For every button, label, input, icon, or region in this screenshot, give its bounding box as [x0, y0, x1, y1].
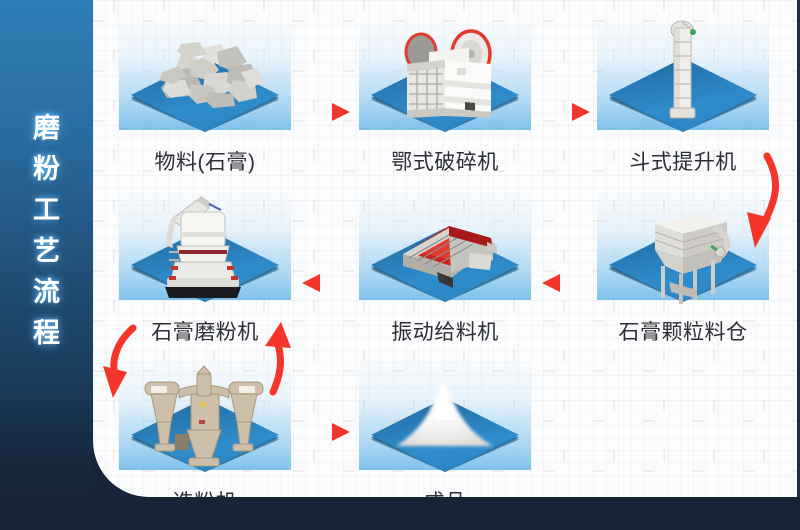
flowchart-poster: 磨 粉 工 艺 流 程 [0, 0, 800, 530]
vibrating-feeder-icon [345, 188, 545, 314]
flow-node-finished-product[interactable]: 成品 [345, 358, 545, 497]
flow-node-raw-material[interactable]: 物料(石膏) [105, 18, 305, 178]
sidebar-title-bar: 磨 粉 工 艺 流 程 [0, 0, 93, 530]
rock-pile-icon [105, 18, 305, 144]
flow-node-label: 成品 [345, 486, 545, 497]
raymond-mill-icon [105, 188, 305, 314]
stage-platform-grinding-mill [105, 188, 305, 314]
title-char-5: 流 [0, 272, 93, 313]
flow-node-label: 物料(石膏) [105, 146, 305, 176]
stage-platform-finished-product [345, 358, 545, 484]
stage-platform-bucket-elevator [583, 18, 783, 144]
connector-arrow-right-2 [538, 98, 594, 126]
bucket-elevator-icon [583, 18, 783, 144]
stage-platform-jaw-crusher [345, 18, 545, 144]
flow-node-label: 选粉机 [105, 486, 305, 497]
connector-arrow-left-2 [538, 269, 594, 297]
connector-arrow-right-1 [298, 98, 354, 126]
poster-vertical-title: 磨 粉 工 艺 流 程 [0, 108, 93, 354]
jaw-crusher-icon [345, 18, 545, 144]
title-char-1: 磨 [0, 108, 93, 149]
flow-canvas: 物料(石膏) [93, 0, 800, 497]
connector-arrow-left-1 [298, 269, 354, 297]
connector-arrow-right-3 [298, 418, 354, 446]
title-char-6: 程 [0, 313, 93, 354]
flow-node-label: 振动给料机 [345, 316, 545, 346]
stage-platform-vibrating-feeder [345, 188, 545, 314]
flow-node-vibrating-feeder[interactable]: 振动给料机 [345, 188, 545, 348]
connector-arrow-curved-down-left [99, 322, 153, 406]
title-char-3: 工 [0, 190, 93, 231]
flow-node-label: 石膏颗粒料仓 [583, 316, 783, 346]
stage-platform-raw-material [105, 18, 305, 144]
title-char-2: 粉 [0, 149, 93, 190]
title-char-4: 艺 [0, 231, 93, 272]
flow-node-jaw-crusher[interactable]: 鄂式破碎机 [345, 18, 545, 178]
flow-node-label: 鄂式破碎机 [345, 146, 545, 176]
powder-pile-icon [345, 358, 545, 484]
connector-arrow-curved-down [733, 150, 797, 260]
connector-arrow-curved-up-right [259, 318, 307, 398]
